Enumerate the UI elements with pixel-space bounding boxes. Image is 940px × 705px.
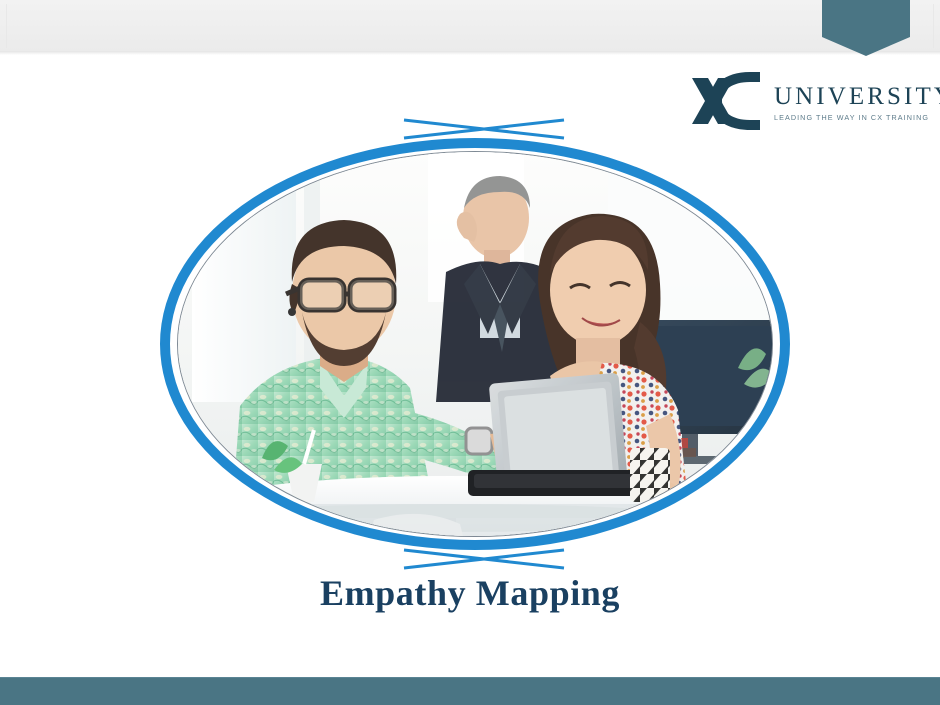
hero-photograph (178, 152, 772, 536)
cross-lines-bottom-decoration (152, 536, 798, 570)
footer-bar (0, 677, 940, 705)
hero-image-frame (152, 118, 798, 570)
oval-photo-container (160, 138, 790, 550)
logo-wordmark: UNIVERSITY (774, 84, 926, 109)
logo-text-block: UNIVERSITY LEADING THE WAY IN CX TRAININ… (774, 84, 926, 122)
header-inner-frame (6, 4, 934, 48)
page-title: Empathy Mapping (0, 572, 940, 614)
header-band (0, 0, 940, 52)
